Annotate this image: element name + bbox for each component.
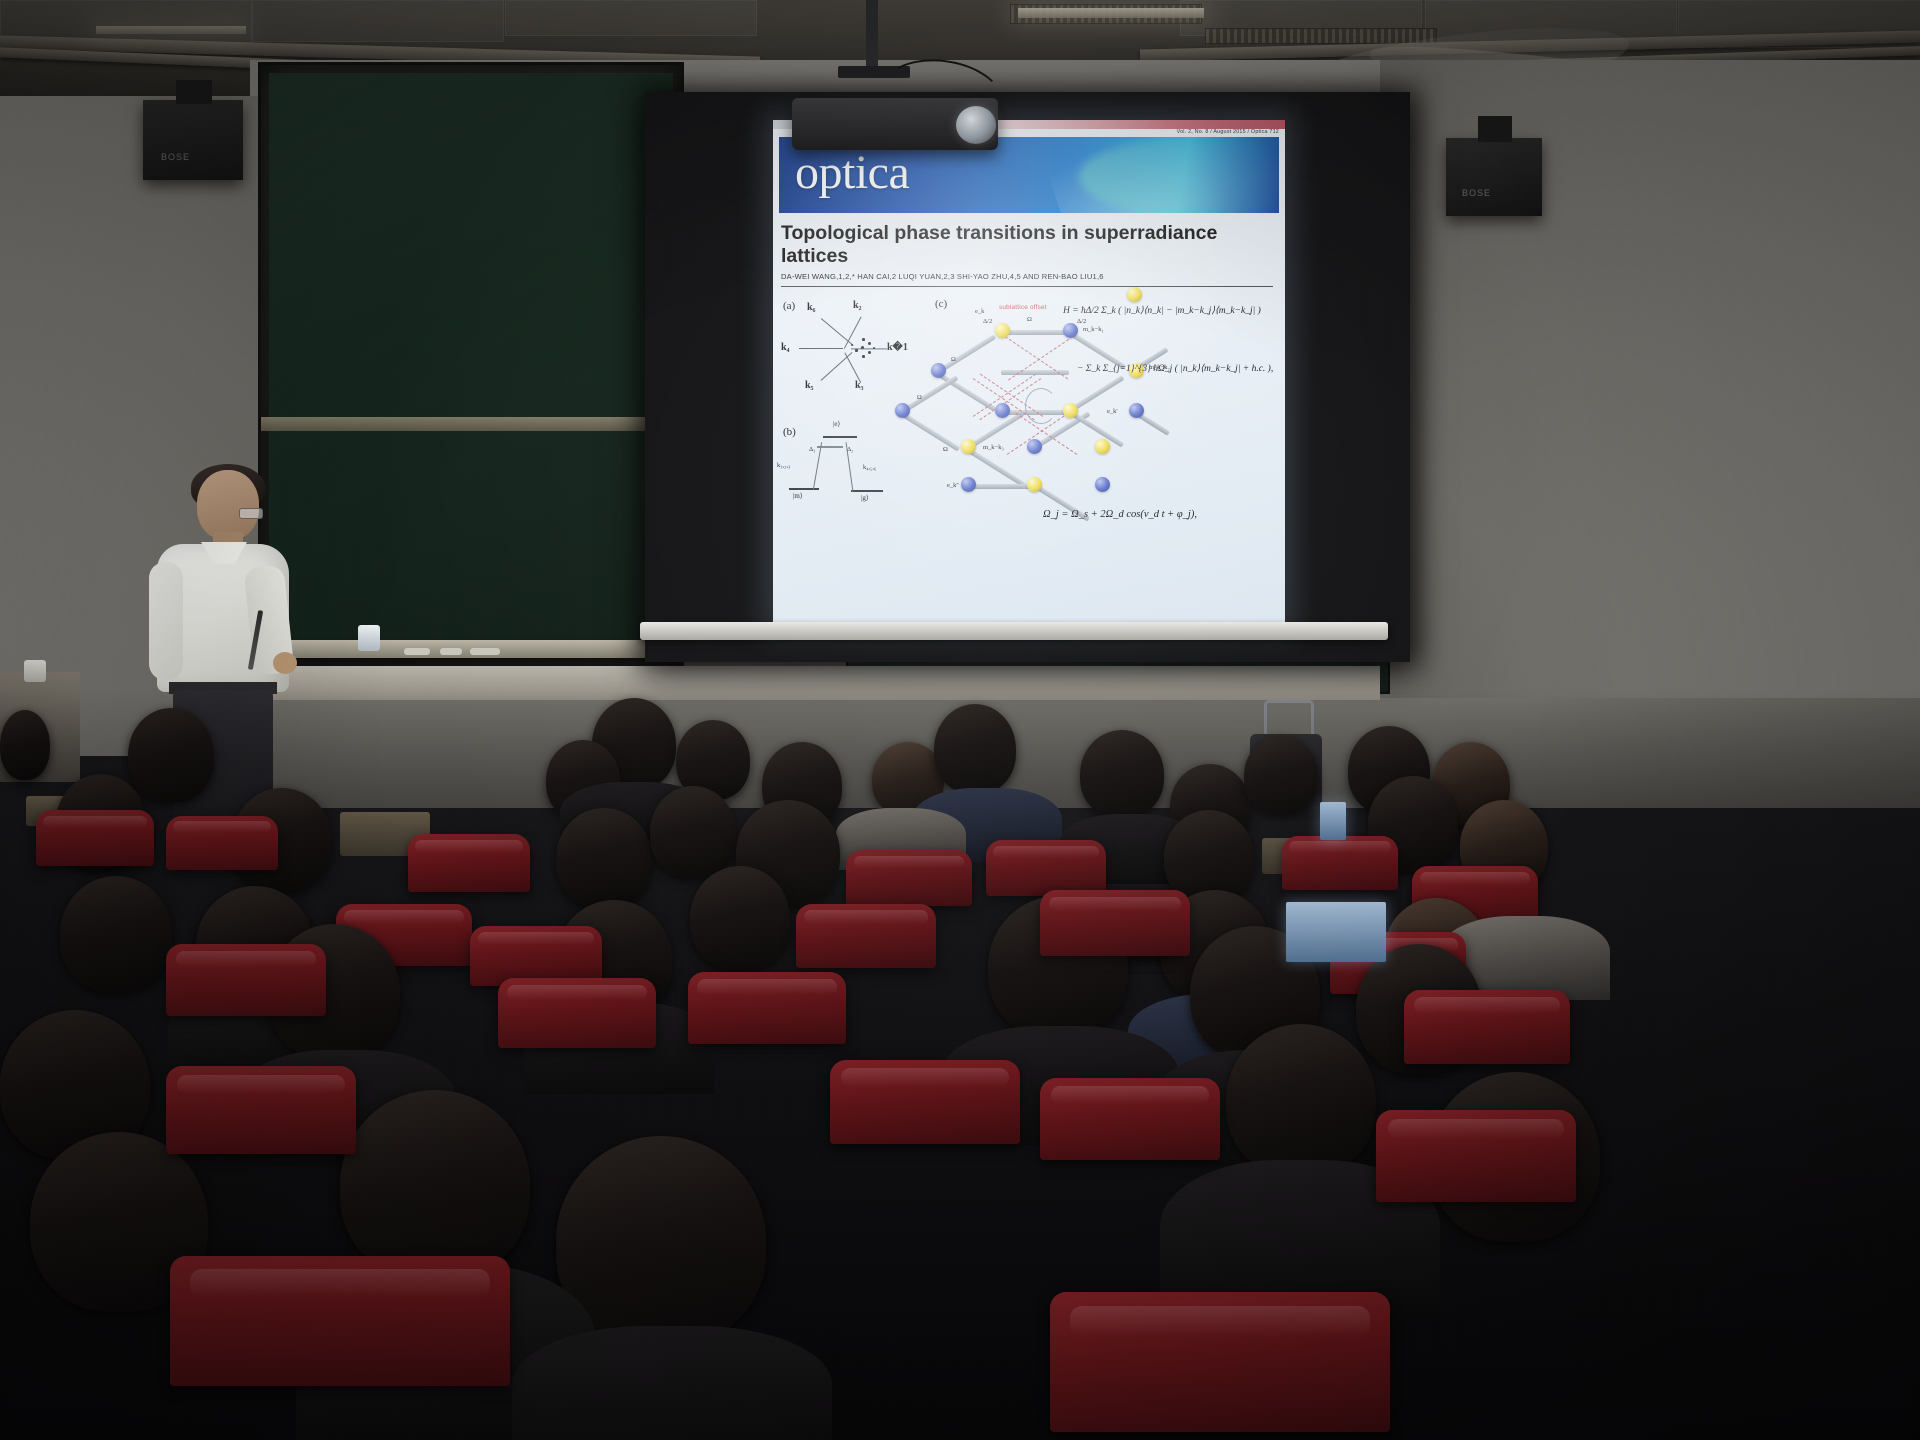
k-label-456: k₄,₅,₆ <box>863 464 876 471</box>
lattice-site-b <box>1063 323 1078 338</box>
auditorium-chair[interactable] <box>846 850 972 906</box>
equation-coupling: − Σ_k Σ_{j=1}^{3} ħΩ_j ( |n_k⟩⟨m_k−k_j| … <box>1077 362 1273 374</box>
lattice-site-b <box>961 477 976 492</box>
auditorium-chair[interactable] <box>408 834 530 892</box>
lattice-site-a <box>961 439 976 454</box>
lattice-bond <box>1001 330 1069 335</box>
auditorium-chair[interactable] <box>1376 1110 1576 1202</box>
auditorium-chair[interactable] <box>36 810 154 866</box>
auditorium-chair[interactable] <box>796 904 936 968</box>
wavevector-ray <box>821 318 854 346</box>
auditorium-chair[interactable] <box>1404 990 1570 1064</box>
presenter-glasses <box>239 508 263 519</box>
ceiling-light <box>1018 8 1204 18</box>
lattice-site-a <box>1063 403 1078 418</box>
projection-screen: Vol. 2, No. 8 / August 2015 / Optica 712… <box>645 92 1410 662</box>
screen-roller-bar <box>640 622 1388 640</box>
site-label-mk1: m_k−k₁ <box>1083 326 1104 333</box>
momentum-dot-cluster <box>851 336 879 362</box>
equation-coupling-text: − Σ_k Σ_{j=1}^{3} ħΩ_j ( |n_k⟩⟨m_k−k_j| … <box>1077 364 1273 374</box>
audience-phone[interactable] <box>1320 802 1346 840</box>
k-label-k1: k�1 <box>887 342 908 353</box>
auditorium-chair[interactable] <box>498 978 656 1048</box>
lattice-bond <box>902 412 960 451</box>
equation-hamiltonian: H = ħΔ/2 Σ_k ( |n_k⟩⟨n_k| − |m_k−k_j⟩⟨m_… <box>1063 304 1261 316</box>
journal-wordmark: optica <box>795 149 909 197</box>
marker <box>470 648 500 655</box>
lattice-site-b <box>1129 403 1144 418</box>
lattice-site-b <box>995 403 1010 418</box>
figure-1: (a) k₆ k₂ k₄ k�1 k₅ k₃ <box>777 296 1281 622</box>
state-label-e: |e⟩ <box>833 420 840 428</box>
lattice-bond <box>967 484 1035 489</box>
speaker-bracket-left <box>176 80 212 104</box>
panel-b-label: (b) <box>783 426 796 438</box>
audience-head <box>1244 736 1318 814</box>
audience-head <box>1080 730 1164 818</box>
ceiling-light <box>96 26 246 34</box>
auditorium-chair[interactable] <box>166 1066 356 1154</box>
lattice-site-b <box>895 403 910 418</box>
journal-header-meta: Vol. 2, No. 8 / August 2015 / Optica 712 <box>1177 129 1279 135</box>
audience-head <box>690 866 790 970</box>
site-label-mk3: m_k−k₃ <box>983 444 1004 451</box>
projector-mount <box>866 0 878 72</box>
k-label-k2: k₂ <box>853 300 862 311</box>
energy-level-e <box>823 436 857 438</box>
audience-head <box>128 708 214 802</box>
audience-head <box>1226 1024 1376 1176</box>
lecture-hall-photo: BOSE BOSE Vol. 2, No. 8 / August 2015 / … <box>0 0 1920 1440</box>
auditorium-chair[interactable] <box>1040 1078 1220 1160</box>
wavevector-ray <box>799 348 843 349</box>
site-label-ek-second: e_k'' <box>947 482 959 489</box>
lattice-bond <box>968 448 1026 487</box>
auditorium-chair[interactable] <box>170 1256 510 1386</box>
auditorium-chair[interactable] <box>470 926 602 986</box>
equation-omega-text: Ω_j = Ω_s + 2Ω_d cos(ν_d t + φ_j), <box>1043 509 1197 520</box>
coupling-label-omega: Ω <box>1027 316 1032 323</box>
auditorium-chair[interactable] <box>986 840 1106 896</box>
site-label-ek-prime: e_k' <box>1107 408 1118 415</box>
coupling-label-omega: Ω <box>951 356 956 363</box>
sublattice-offset-label: sublattice offset <box>999 304 1047 311</box>
audience-head <box>556 808 652 908</box>
offset-label-right: Δ/2 <box>1077 318 1086 325</box>
auditorium-chair[interactable] <box>166 944 326 1016</box>
seated-audience <box>0 690 1920 1440</box>
wall-speaker-left: BOSE <box>143 100 243 180</box>
lattice-site-a <box>1027 477 1042 492</box>
paper-title: Topological phase transitions in superra… <box>781 222 1273 268</box>
audience-head <box>60 876 172 992</box>
lattice-site-a <box>995 323 1010 338</box>
energy-level-g <box>851 490 883 492</box>
author-rule <box>781 286 1273 287</box>
audience-laptop[interactable] <box>1286 902 1386 962</box>
auditorium-chair[interactable] <box>166 816 278 870</box>
offset-label-left: Δ/2 <box>983 318 992 325</box>
audience-head <box>934 704 1016 794</box>
lattice-site-b <box>1027 439 1042 454</box>
audience-shoulders <box>512 1326 832 1440</box>
auditorium-chair[interactable] <box>688 972 846 1044</box>
auditorium-chair[interactable] <box>1040 890 1190 956</box>
k-label-k4: k₄ <box>781 342 790 353</box>
auditorium-chair[interactable] <box>1050 1292 1390 1432</box>
state-label-g: |g⟩ <box>861 494 869 502</box>
presenter-head <box>197 470 259 540</box>
speaker-bracket-right <box>1478 116 1512 142</box>
audience-head <box>0 710 50 780</box>
presenter-left-arm <box>149 562 183 680</box>
coupling-label-omega: Ω <box>917 394 922 401</box>
energy-level-m <box>789 488 819 490</box>
presenter-hand <box>273 652 297 674</box>
lattice-site-a <box>1127 287 1142 302</box>
k-label-k6: k₆ <box>807 302 816 313</box>
state-label-m: |m⟩ <box>793 492 803 500</box>
lattice-site-b <box>1095 477 1110 492</box>
panel-c-label: (c) <box>935 298 947 310</box>
speaker-badge: BOSE <box>161 152 190 162</box>
equation-hamiltonian-text: H = ħΔ/2 Σ_k ( |n_k⟩⟨n_k| − |m_k−k_j⟩⟨m_… <box>1063 306 1261 316</box>
marker <box>404 648 430 655</box>
speaker-badge: BOSE <box>1462 188 1491 198</box>
cup <box>358 625 380 651</box>
lattice-site-b <box>931 363 946 378</box>
detuning-label-1: Δ₁ <box>809 446 815 453</box>
k-label-123: k₁,₂,₃ <box>777 462 790 469</box>
equation-omega: Ω_j = Ω_s + 2Ω_d cos(ν_d t + φ_j), <box>1043 508 1197 520</box>
coupling-label-omega: Ω <box>943 446 948 453</box>
cup <box>24 660 46 682</box>
audience-head <box>650 786 736 878</box>
slide-content: Vol. 2, No. 8 / August 2015 / Optica 712… <box>773 120 1285 625</box>
k-label-k5: k₅ <box>805 380 814 391</box>
chirality-loop-arrow <box>1025 388 1057 424</box>
marker <box>440 648 462 655</box>
audience-head <box>340 1090 530 1280</box>
paper-authors: DA-WEI WANG,1,2,* HAN CAI,2 LUQI YUAN,2,… <box>781 272 1267 281</box>
wall-speaker-right: BOSE <box>1446 138 1542 216</box>
lattice-site-a <box>1095 439 1110 454</box>
panel-a-label: (a) <box>783 300 795 312</box>
auditorium-chair[interactable] <box>830 1060 1020 1144</box>
site-label-ek: e_k <box>975 308 984 315</box>
auditorium-chair[interactable] <box>1282 836 1398 890</box>
